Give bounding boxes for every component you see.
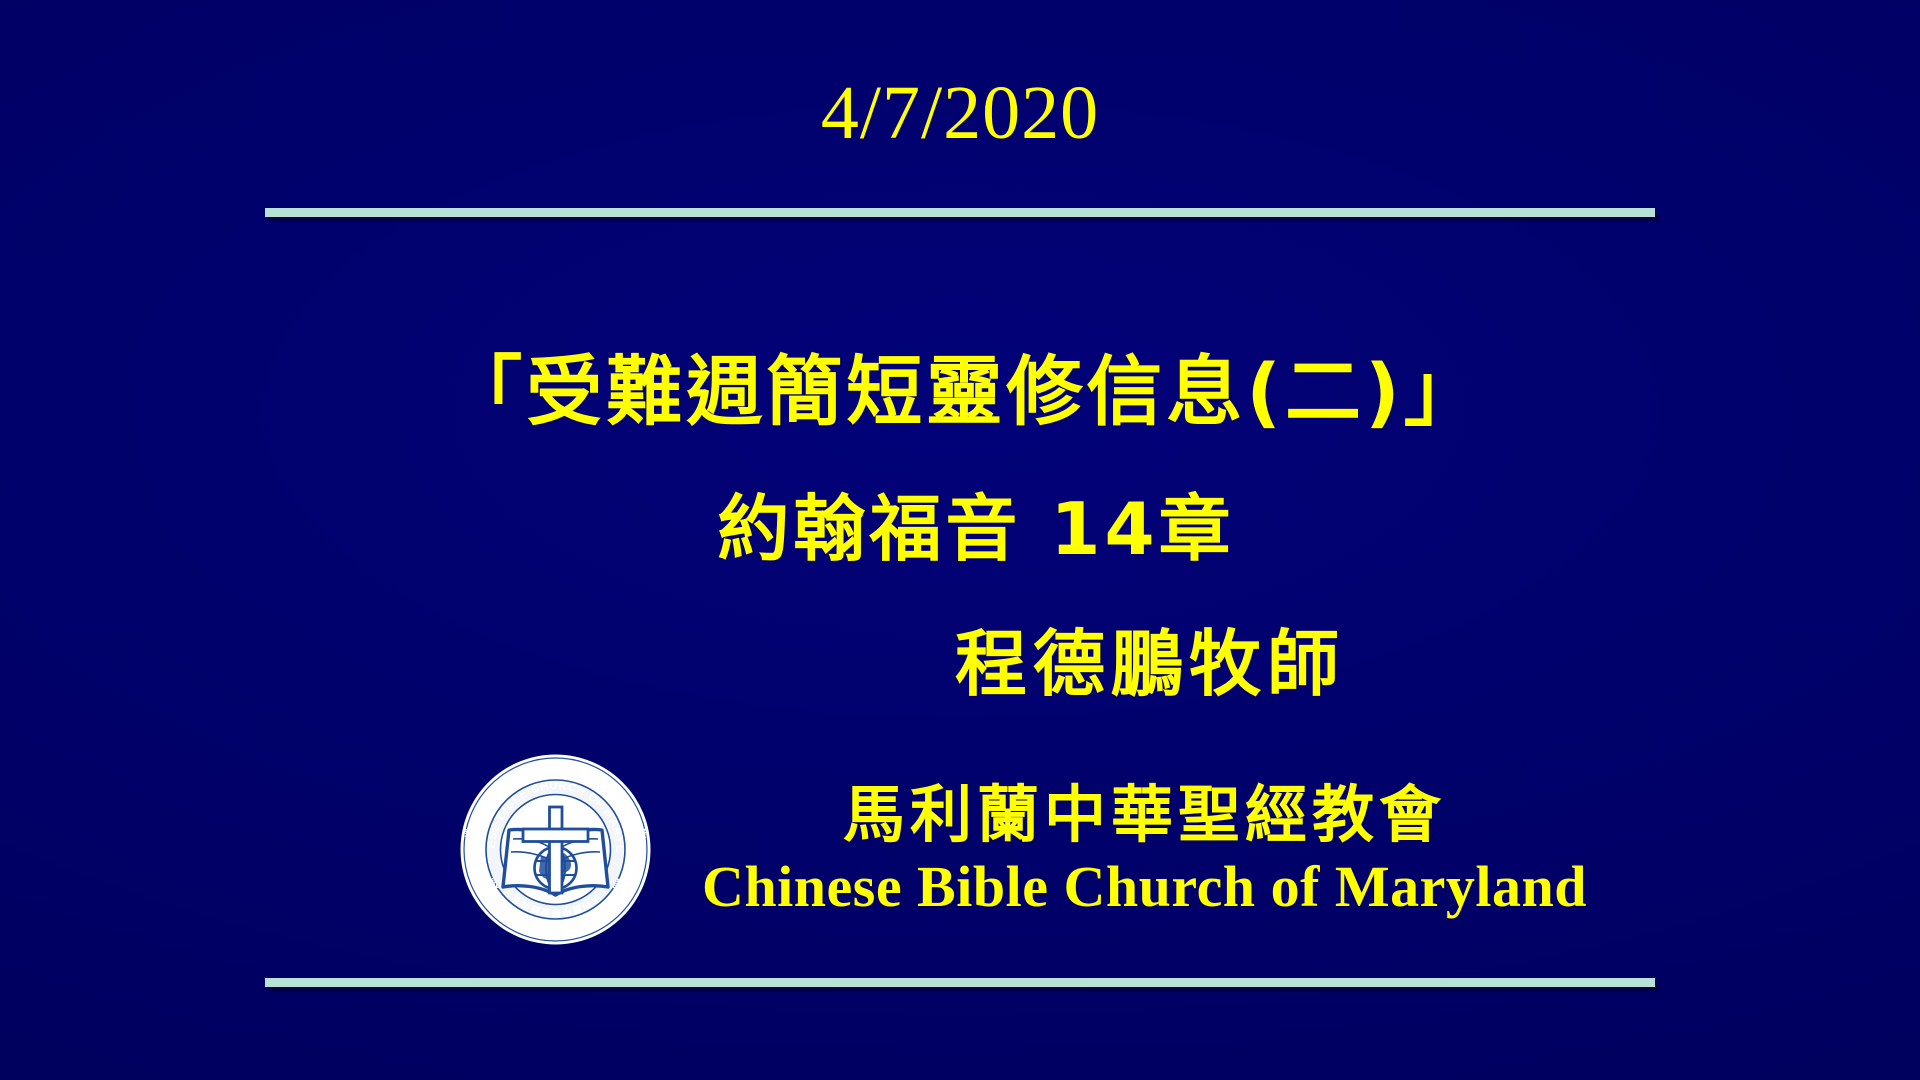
church-seal-logo: 高 舉 基 督 Exalting Jesus Christ Edifying t…	[453, 747, 658, 952]
svg-text:栽: 栽	[464, 827, 474, 840]
svg-text:廣: 廣	[635, 827, 646, 840]
top-divider-rule	[265, 208, 1655, 217]
slide-date: 4/7/2020	[0, 74, 1920, 154]
sermon-title-slide: 4/7/2020 「受難週簡短靈修信息(二)」 約翰福音 14章 程德鵬牧師	[0, 0, 1920, 1080]
church-name-english: Chinese Bible Church of Maryland	[702, 856, 1587, 917]
svg-text:傳: 傳	[632, 845, 643, 858]
church-footer: 高 舉 基 督 Exalting Jesus Christ Edifying t…	[0, 742, 1920, 957]
church-name-block: 馬利蘭中華聖經教會 Chinese Bible Church of Maryla…	[702, 782, 1587, 917]
svg-text:培: 培	[468, 845, 478, 858]
sermon-title: 「受難週簡短靈修信息(二)」	[0, 330, 1920, 440]
bottom-divider-rule	[265, 978, 1655, 987]
svg-text:信: 信	[477, 862, 487, 875]
svg-text:福: 福	[623, 862, 634, 875]
church-name-chinese: 馬利蘭中華聖經教會	[702, 782, 1587, 848]
scripture-reference: 約翰福音 14章	[0, 470, 1920, 575]
speaker-name: 程德鵬牧師	[0, 605, 1920, 710]
